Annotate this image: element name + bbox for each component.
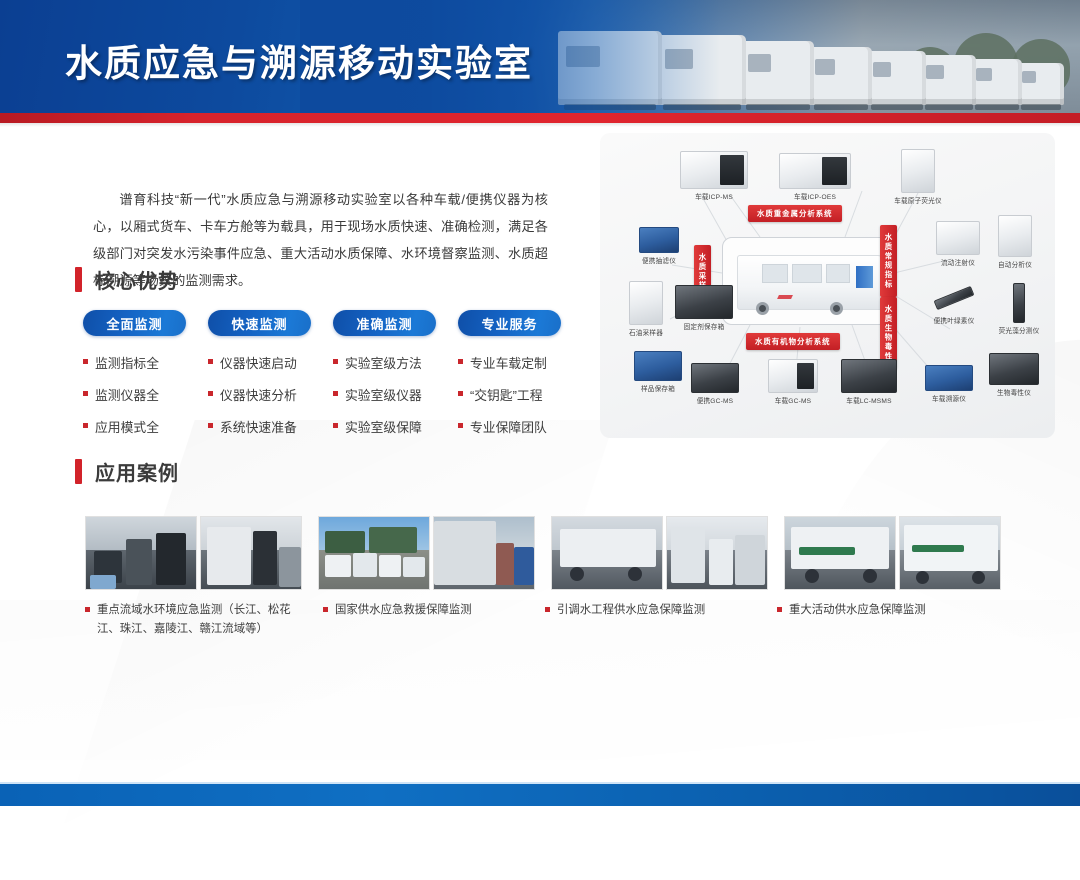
list-item: 专业车载定制 <box>458 353 561 372</box>
advantage-pill-1[interactable]: 快速监测 <box>208 310 311 336</box>
list-item: 专业保障团队 <box>458 417 561 436</box>
photo-person <box>496 543 514 585</box>
square-bullet-icon <box>333 423 338 428</box>
photo-vehicle-stripe <box>799 547 855 555</box>
list-item-label: “交钥匙”工程 <box>470 385 543 404</box>
list-item: 实验室级保障 <box>333 417 436 436</box>
equipment-label: 车载溯源仪 <box>914 393 984 403</box>
square-bullet-icon <box>458 359 463 364</box>
square-bullet-icon <box>777 607 782 612</box>
square-bullet-icon <box>333 391 338 396</box>
equipment-algae-fluorometer: 荧光藻分测仪 <box>984 283 1054 335</box>
equipment-system-diagram: 水质重金属分析系统 水质有机物分析系统 水质采样分析 水质常规指标 水质生物毒性… <box>600 133 1055 438</box>
photo-tree <box>325 531 365 553</box>
equipment-bio-toxicity-analyzer: 生物毒性仪 <box>978 353 1050 397</box>
case-photo-strip <box>85 516 1001 590</box>
square-bullet-icon <box>83 423 88 428</box>
case-caption-0: 重点流域水环境应急监测（长江、松花江、珠江、嘉陵江、赣江流域等） <box>85 601 315 639</box>
page-title: 水质应急与溯源移动实验室 <box>65 33 533 87</box>
list-item-label: 实验室级保障 <box>345 417 422 436</box>
equipment-vehicle-lcmsms: 车载LC-MSMS <box>832 359 906 405</box>
instrument-icon <box>680 151 748 189</box>
list-item-label: 应用模式全 <box>95 417 159 436</box>
advantage-column-1: 仪器快速启动 仪器快速分析 系统快速准备 <box>208 353 311 436</box>
case-photo[interactable] <box>784 516 896 590</box>
center-vehicle-frame <box>722 237 894 325</box>
square-bullet-icon <box>208 391 213 396</box>
vehicle-equipment-rack <box>856 266 873 288</box>
list-item: 仪器快速启动 <box>208 353 311 372</box>
equipment-portable-filter: 便携抽滤仪 <box>622 227 696 265</box>
equipment-vehicle-gcms: 车载GC-MS <box>758 359 828 405</box>
instrument-icon <box>998 215 1032 257</box>
photo-person <box>514 547 534 585</box>
equipment-label: 固定剂保存箱 <box>666 321 742 331</box>
square-bullet-icon <box>545 607 550 612</box>
instrument-icon <box>768 359 818 393</box>
vehicle-stripe <box>777 295 793 299</box>
advantage-column-2: 实验室级方法 实验室级仪器 实验室级保障 <box>333 353 436 436</box>
cases-heading-text: 应用案例 <box>95 457 179 486</box>
vehicle-window <box>792 264 822 283</box>
advantage-column-3: 专业车载定制 “交钥匙”工程 专业保障团队 <box>458 353 561 436</box>
photo-subject <box>207 527 251 585</box>
instrument-icon <box>779 153 851 189</box>
equipment-icp-ms: 车载ICP-MS <box>672 151 756 201</box>
equipment-label: 车载ICP-MS <box>672 191 756 201</box>
case-photo-group-3 <box>784 516 1001 590</box>
advantage-pill-3[interactable]: 专业服务 <box>458 310 561 336</box>
case-caption-3: 重大活动供水应急保障监测 <box>777 601 926 620</box>
vehicle-window <box>826 264 850 283</box>
square-bullet-icon <box>208 359 213 364</box>
case-caption-1: 国家供水应急救援保障监测 <box>323 601 472 620</box>
badge-routine-index: 水质常规指标 <box>880 225 897 297</box>
equipment-label: 荧光藻分测仪 <box>984 325 1054 335</box>
equipment-label: 车载原子荧光仪 <box>878 195 958 205</box>
instrument-icon <box>675 285 733 319</box>
badge-organic-system: 水质有机物分析系统 <box>746 333 840 350</box>
photo-tree <box>369 527 417 553</box>
instrument-icon <box>1013 283 1025 323</box>
instrument-icon <box>989 353 1039 385</box>
photo-wheel <box>570 567 584 581</box>
equipment-icp-oes: 车载ICP-OES <box>772 153 858 201</box>
instrument-icon <box>936 221 980 255</box>
case-photo[interactable] <box>433 516 535 590</box>
list-item-label: 监测指标全 <box>95 353 159 372</box>
case-photo-group-2 <box>551 516 768 590</box>
list-item-label: 专业保障团队 <box>470 417 547 436</box>
photo-subject <box>279 547 301 587</box>
case-caption-label: 引调水工程供水应急保障监测 <box>557 601 705 620</box>
instrument-icon <box>629 281 663 325</box>
equipment-label: 自动分析仪 <box>982 259 1048 269</box>
case-caption-label: 重大活动供水应急保障监测 <box>789 601 926 620</box>
truck-shape <box>922 55 976 105</box>
list-item-label: 实验室级方法 <box>345 353 422 372</box>
list-item: 监测指标全 <box>83 353 186 372</box>
heading-accent-bar <box>75 267 82 292</box>
photo-vehicle-stripe <box>912 545 964 552</box>
advantage-column-0: 监测指标全 监测仪器全 应用模式全 <box>83 353 186 436</box>
truck-shape <box>810 47 872 105</box>
photo-vehicle <box>325 555 351 577</box>
case-photo-group-1 <box>318 516 535 590</box>
stripe-shadow <box>0 123 1080 127</box>
list-item: 监测仪器全 <box>83 385 186 404</box>
equipment-label: 车载GC-MS <box>758 395 828 405</box>
badge-heavy-metal-system: 水质重金属分析系统 <box>748 205 842 222</box>
truck-shape <box>868 51 926 105</box>
photo-vehicle <box>560 529 656 567</box>
equipment-auto-analyzer: 自动分析仪 <box>982 215 1048 269</box>
square-bullet-icon <box>333 359 338 364</box>
case-caption-2: 引调水工程供水应急保障监测 <box>545 601 705 620</box>
instrument-icon <box>634 351 682 381</box>
section-heading-advantages: 核心优势 <box>75 265 179 294</box>
list-item-label: 实验室级仪器 <box>345 385 422 404</box>
photo-wheel <box>863 569 877 583</box>
advantage-pill-row: 全面监测 快速监测 准确监测 专业服务 <box>83 310 561 336</box>
section-heading-cases: 应用案例 <box>75 457 179 486</box>
list-item-label: 专业车载定制 <box>470 353 547 372</box>
list-item-label: 监测仪器全 <box>95 385 159 404</box>
photo-wheel <box>805 569 819 583</box>
equipment-label: 便携GC-MS <box>680 395 750 405</box>
case-photo[interactable] <box>551 516 663 590</box>
photo-vehicle <box>403 557 425 577</box>
equipment-fixative-case: 固定剂保存箱 <box>666 285 742 331</box>
square-bullet-icon <box>458 391 463 396</box>
case-photo[interactable] <box>200 516 302 590</box>
list-item: “交钥匙”工程 <box>458 385 561 404</box>
case-caption-label: 重点流域水环境应急监测（长江、松花江、珠江、嘉陵江、赣江流域等） <box>97 601 312 639</box>
photo-subject <box>126 539 152 585</box>
square-bullet-icon <box>85 607 90 612</box>
photo-wheel <box>972 571 985 584</box>
photo-wheel <box>916 571 929 584</box>
list-item: 系统快速准备 <box>208 417 311 436</box>
truck-shape <box>1018 63 1064 105</box>
vehicle-window <box>762 264 788 283</box>
square-bullet-icon <box>323 607 328 612</box>
truck-shape <box>742 41 814 105</box>
square-bullet-icon <box>458 423 463 428</box>
equipment-label: 车载ICP-OES <box>772 191 858 201</box>
equipment-label: 便携叶绿素仪 <box>918 315 990 325</box>
advantage-pill-0[interactable]: 全面监测 <box>83 310 186 336</box>
equipment-portable-chlorophyll: 便携叶绿素仪 <box>918 293 990 325</box>
case-photo[interactable] <box>666 516 768 590</box>
square-bullet-icon <box>208 423 213 428</box>
photo-subject <box>671 527 705 583</box>
vehicle-wheel <box>830 302 843 315</box>
case-photo[interactable] <box>899 516 1001 590</box>
photo-vehicle <box>379 555 401 577</box>
advantages-heading-text: 核心优势 <box>95 265 179 294</box>
red-divider-stripe <box>0 113 1080 123</box>
advantage-bullet-columns: 监测指标全 监测仪器全 应用模式全 仪器快速启动 仪器快速分析 系统快速准备 实… <box>83 353 561 436</box>
photo-person <box>709 539 733 585</box>
equipment-label: 车载LC-MSMS <box>832 395 906 405</box>
header-banner: 水质应急与溯源移动实验室 <box>0 0 1080 113</box>
photo-subject <box>156 533 186 585</box>
photo-subject <box>253 531 277 585</box>
instrument-icon <box>925 365 973 391</box>
footer-bar <box>0 782 1080 806</box>
photo-vehicle <box>353 553 377 577</box>
photo-wheel <box>628 567 642 581</box>
advantage-pill-2[interactable]: 准确监测 <box>333 310 436 336</box>
case-caption-label: 国家供水应急救援保障监测 <box>335 601 472 620</box>
square-bullet-icon <box>83 359 88 364</box>
list-item-label: 仪器快速启动 <box>220 353 297 372</box>
instrument-icon <box>901 149 935 193</box>
case-photo-group-0 <box>85 516 302 590</box>
case-photo[interactable] <box>85 516 197 590</box>
equipment-label: 便携抽滤仪 <box>622 255 696 265</box>
list-item-label: 仪器快速分析 <box>220 385 297 404</box>
case-photo[interactable] <box>318 516 430 590</box>
instrument-icon <box>841 359 897 393</box>
equipment-label: 生物毒性仪 <box>978 387 1050 397</box>
truck-shape <box>972 59 1022 105</box>
photo-screen <box>90 575 116 589</box>
photo-vehicle <box>434 521 496 585</box>
equipment-traceability-analyzer: 车载溯源仪 <box>914 365 984 403</box>
list-item: 仪器快速分析 <box>208 385 311 404</box>
list-item: 应用模式全 <box>83 417 186 436</box>
list-item-label: 系统快速准备 <box>220 417 297 436</box>
background-swoosh-left <box>45 420 614 880</box>
instrument-icon <box>639 227 679 253</box>
photo-person <box>735 535 765 585</box>
equipment-atomic-fluorescence: 车载原子荧光仪 <box>878 149 958 205</box>
mobile-lab-vehicle-icon <box>737 255 883 310</box>
equipment-portable-gcms: 便携GC-MS <box>680 363 750 405</box>
list-item: 实验室级仪器 <box>333 385 436 404</box>
vehicle-wheel <box>756 302 769 315</box>
heading-accent-bar <box>75 459 82 484</box>
list-item: 实验室级方法 <box>333 353 436 372</box>
square-bullet-icon <box>83 391 88 396</box>
instrument-icon <box>691 363 739 393</box>
